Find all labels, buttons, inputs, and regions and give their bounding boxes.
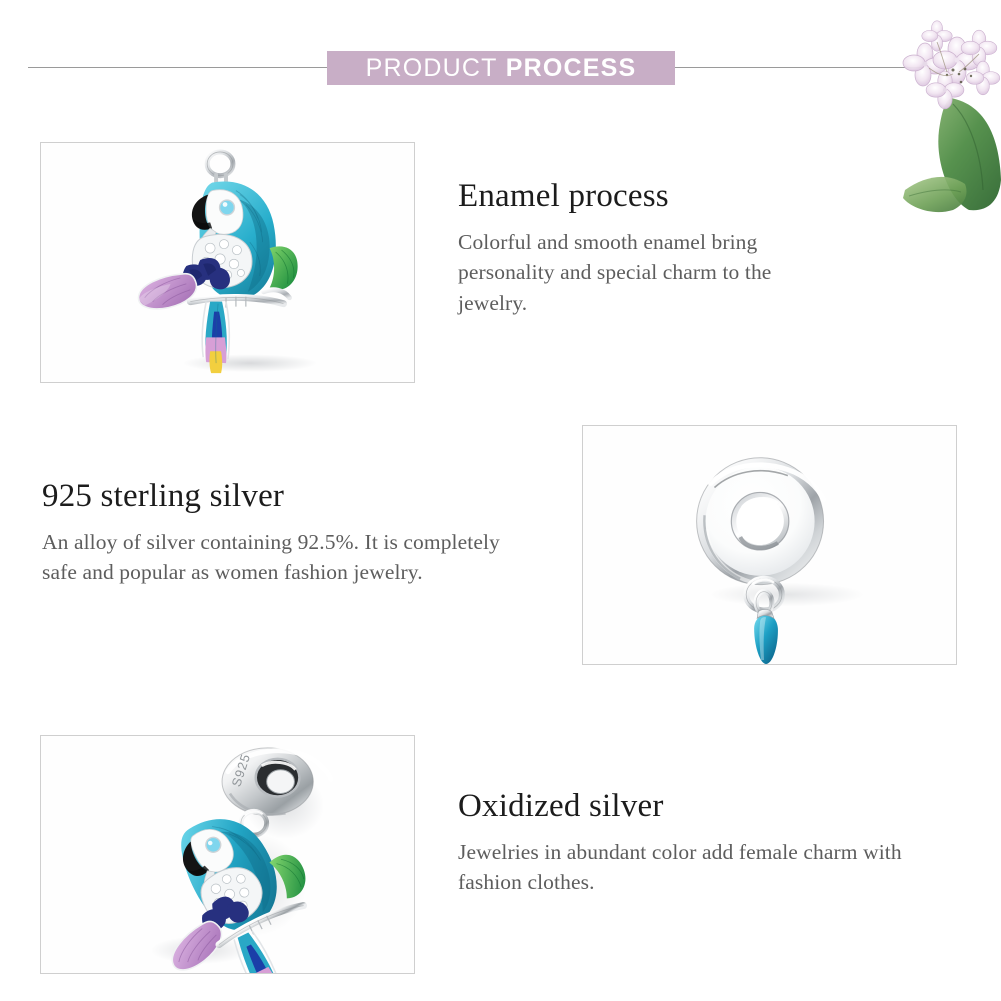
banner-word-product: PRODUCT [366, 54, 498, 82]
product-image-enamel-parrot [40, 142, 415, 383]
section-body-oxidized-silver: Jewelries in abundant color add female c… [458, 837, 908, 898]
product-image-full-parrot-dangle-charm: S925 [40, 735, 415, 974]
product-process-banner: PRODUCT PROCESS [327, 51, 675, 85]
header-rule-right [674, 67, 924, 68]
watercolor-floral-decoration-icon [895, 12, 1001, 227]
text-block-enamel-process: Enamel process Colorful and smooth ename… [458, 178, 838, 319]
section-body-sterling-silver: An alloy of silver containing 92.5%. It … [42, 527, 512, 588]
product-image-silver-bail-closeup [582, 425, 957, 665]
page-header: PRODUCT PROCESS [0, 0, 1001, 110]
text-block-sterling-silver: 925 sterling silver An alloy of silver c… [42, 478, 512, 588]
header-rule-left [28, 67, 328, 68]
text-block-oxidized-silver: Oxidized silver Jewelries in abundant co… [458, 788, 908, 898]
section-body-enamel-process: Colorful and smooth enamel bring persona… [458, 227, 838, 319]
section-heading-sterling-silver: 925 sterling silver [42, 478, 512, 515]
banner-word-process: PROCESS [506, 54, 637, 82]
banner-space [498, 54, 506, 82]
section-heading-oxidized-silver: Oxidized silver [458, 788, 908, 825]
section-heading-enamel-process: Enamel process [458, 178, 838, 215]
banner-title: PRODUCT PROCESS [366, 56, 637, 81]
